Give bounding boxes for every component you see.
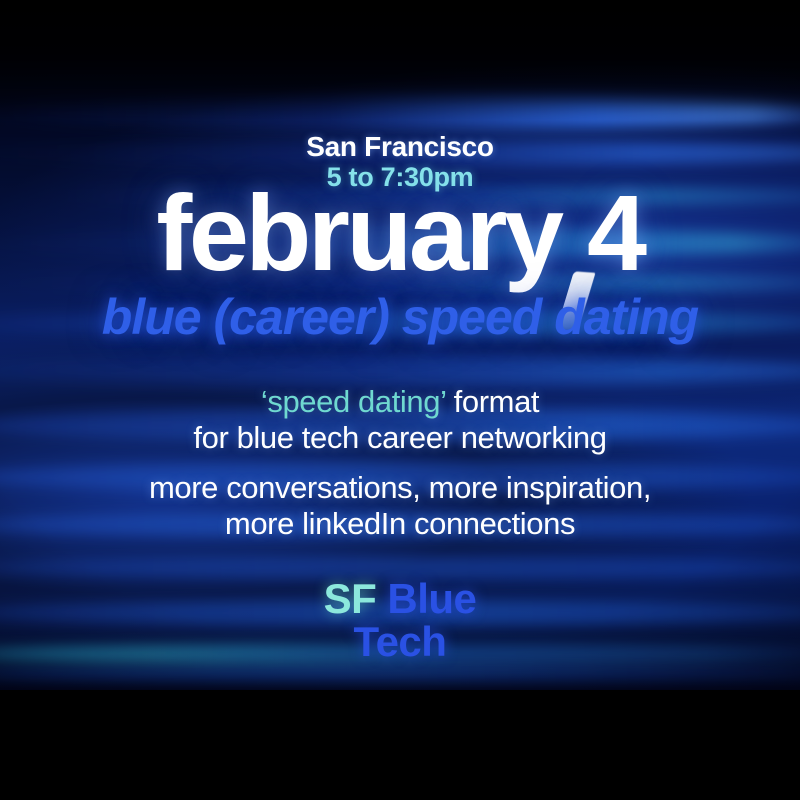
tagline-rest: format [445, 384, 539, 419]
tagline-block: ‘speed dating’ format for blue tech care… [0, 384, 800, 457]
benefits-line-2: more linkedIn connections [0, 506, 800, 542]
logo-blue [376, 575, 387, 622]
logo-sf: SF [324, 575, 377, 622]
logo-blue-text: Blue [387, 575, 476, 622]
logo-tech: Tech [0, 621, 800, 664]
event-poster: San Francisco 5 to 7:30pm february 4 blu… [0, 0, 800, 800]
benefits-block: more conversations, more inspiration, mo… [0, 470, 800, 543]
benefits-line-1: more conversations, more inspiration, [0, 470, 800, 506]
event-location: San Francisco [0, 131, 800, 163]
brand-logo: SF Blue Tech [0, 578, 800, 664]
tagline-line-1: ‘speed dating’ format [0, 384, 800, 420]
event-date-headline: february 4 [0, 179, 800, 287]
tagline-line-2: for blue tech career networking [0, 420, 800, 456]
event-subheadline: blue (career) speed dating [0, 288, 800, 346]
logo-line-1: SF Blue [0, 578, 800, 621]
poster-content: San Francisco 5 to 7:30pm february 4 blu… [0, 0, 800, 800]
tagline-highlight: ‘speed dating’ [261, 384, 446, 419]
